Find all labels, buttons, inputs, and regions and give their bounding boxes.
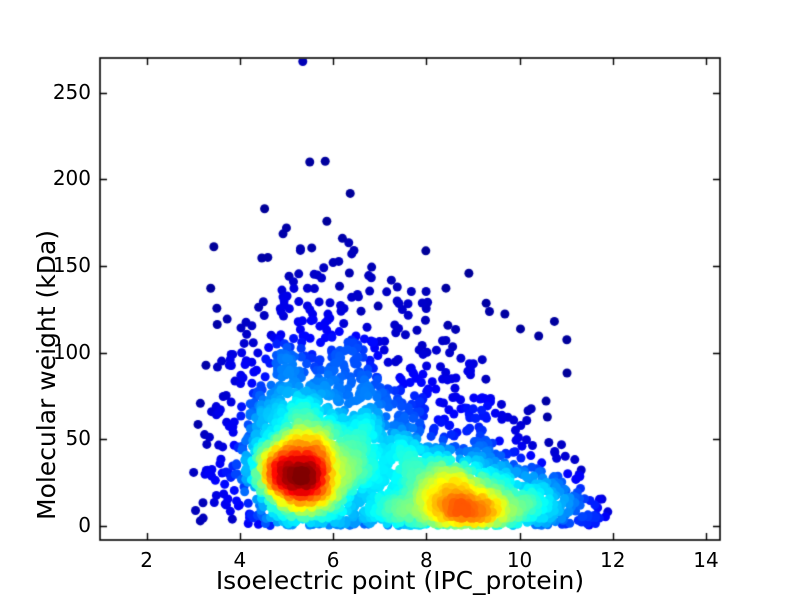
x-tick-label: 14 bbox=[666, 548, 746, 572]
x-tick-label: 12 bbox=[573, 548, 653, 572]
x-tick-label: 4 bbox=[200, 548, 280, 572]
y-tick-label: 150 bbox=[53, 253, 91, 277]
x-tick-label: 2 bbox=[107, 548, 187, 572]
x-tick-label: 6 bbox=[293, 548, 373, 572]
scatter-plot-canvas bbox=[0, 0, 800, 600]
scatter-plot-figure: Molecular weight (kDa) Isoelectric point… bbox=[0, 0, 800, 600]
y-tick-label: 250 bbox=[53, 80, 91, 104]
y-tick-label: 200 bbox=[53, 166, 91, 190]
y-tick-label: 50 bbox=[66, 426, 91, 450]
x-tick-label: 8 bbox=[386, 548, 466, 572]
x-tick-label: 10 bbox=[480, 548, 560, 572]
y-tick-label: 100 bbox=[53, 340, 91, 364]
y-tick-label: 0 bbox=[78, 513, 91, 537]
y-axis-label-container: Molecular weight (kDa) bbox=[0, 0, 44, 600]
